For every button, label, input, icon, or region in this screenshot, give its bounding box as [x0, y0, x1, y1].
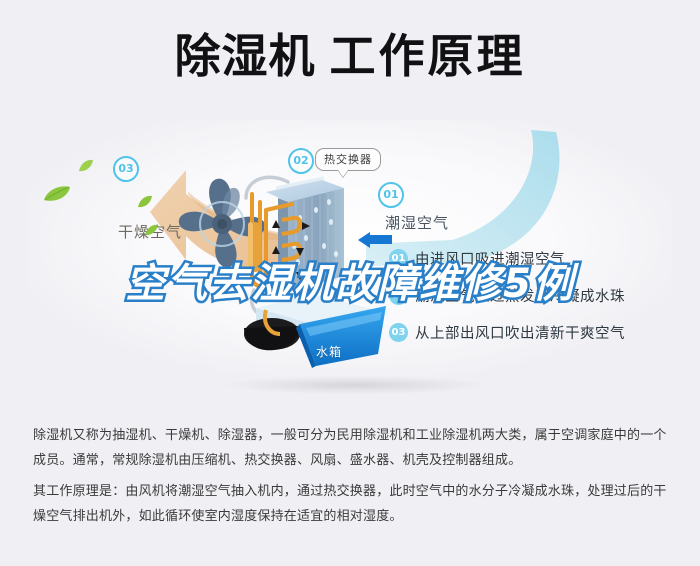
step-label: 从上部出风口吹出清新干爽空气 [415, 322, 625, 343]
diagram-badge-02: 02 [288, 148, 314, 174]
intake-arrow-icon [358, 232, 392, 252]
step-number: 03 [389, 323, 408, 342]
paragraph-1: 除湿机又称为抽湿机、干燥机、除湿器，一般可分为民用除湿机和工业除湿机两大类，属于… [33, 423, 673, 473]
article-body: 除湿机又称为抽湿机、干燥机、除湿器，一般可分为民用除湿机和工业除湿机两大类，属于… [0, 410, 700, 566]
title-part-1: 除湿机 [175, 29, 316, 83]
heat-exchanger-callout: 热交换器 [315, 148, 381, 171]
paragraph-2: 其工作原理是：由风机将潮湿空气抽入机内，通过热交换器，此时空气中的水分子冷凝成水… [33, 479, 673, 529]
infographic-image: 除湿机工作原理 干燥空气 潮湿空气 [0, 0, 700, 410]
list-item: 03 从上部出风口吹出清新干爽空气 [389, 317, 669, 348]
diagram-badge-03: 03 [113, 156, 139, 182]
leaf-icon [42, 184, 72, 208]
leaf-icon [144, 222, 159, 241]
leaf-icon [137, 194, 153, 213]
infographic-title: 除湿机工作原理 [0, 27, 700, 85]
title-part-2: 工作原理 [330, 29, 526, 83]
leaf-icon [78, 158, 94, 177]
overlay-headline: 空气去湿机故障维修5例 [0, 258, 700, 310]
diagram-badge-01: 01 [378, 182, 404, 208]
water-tank-label: 水箱 [316, 343, 342, 360]
artwork-shadow [170, 372, 540, 398]
